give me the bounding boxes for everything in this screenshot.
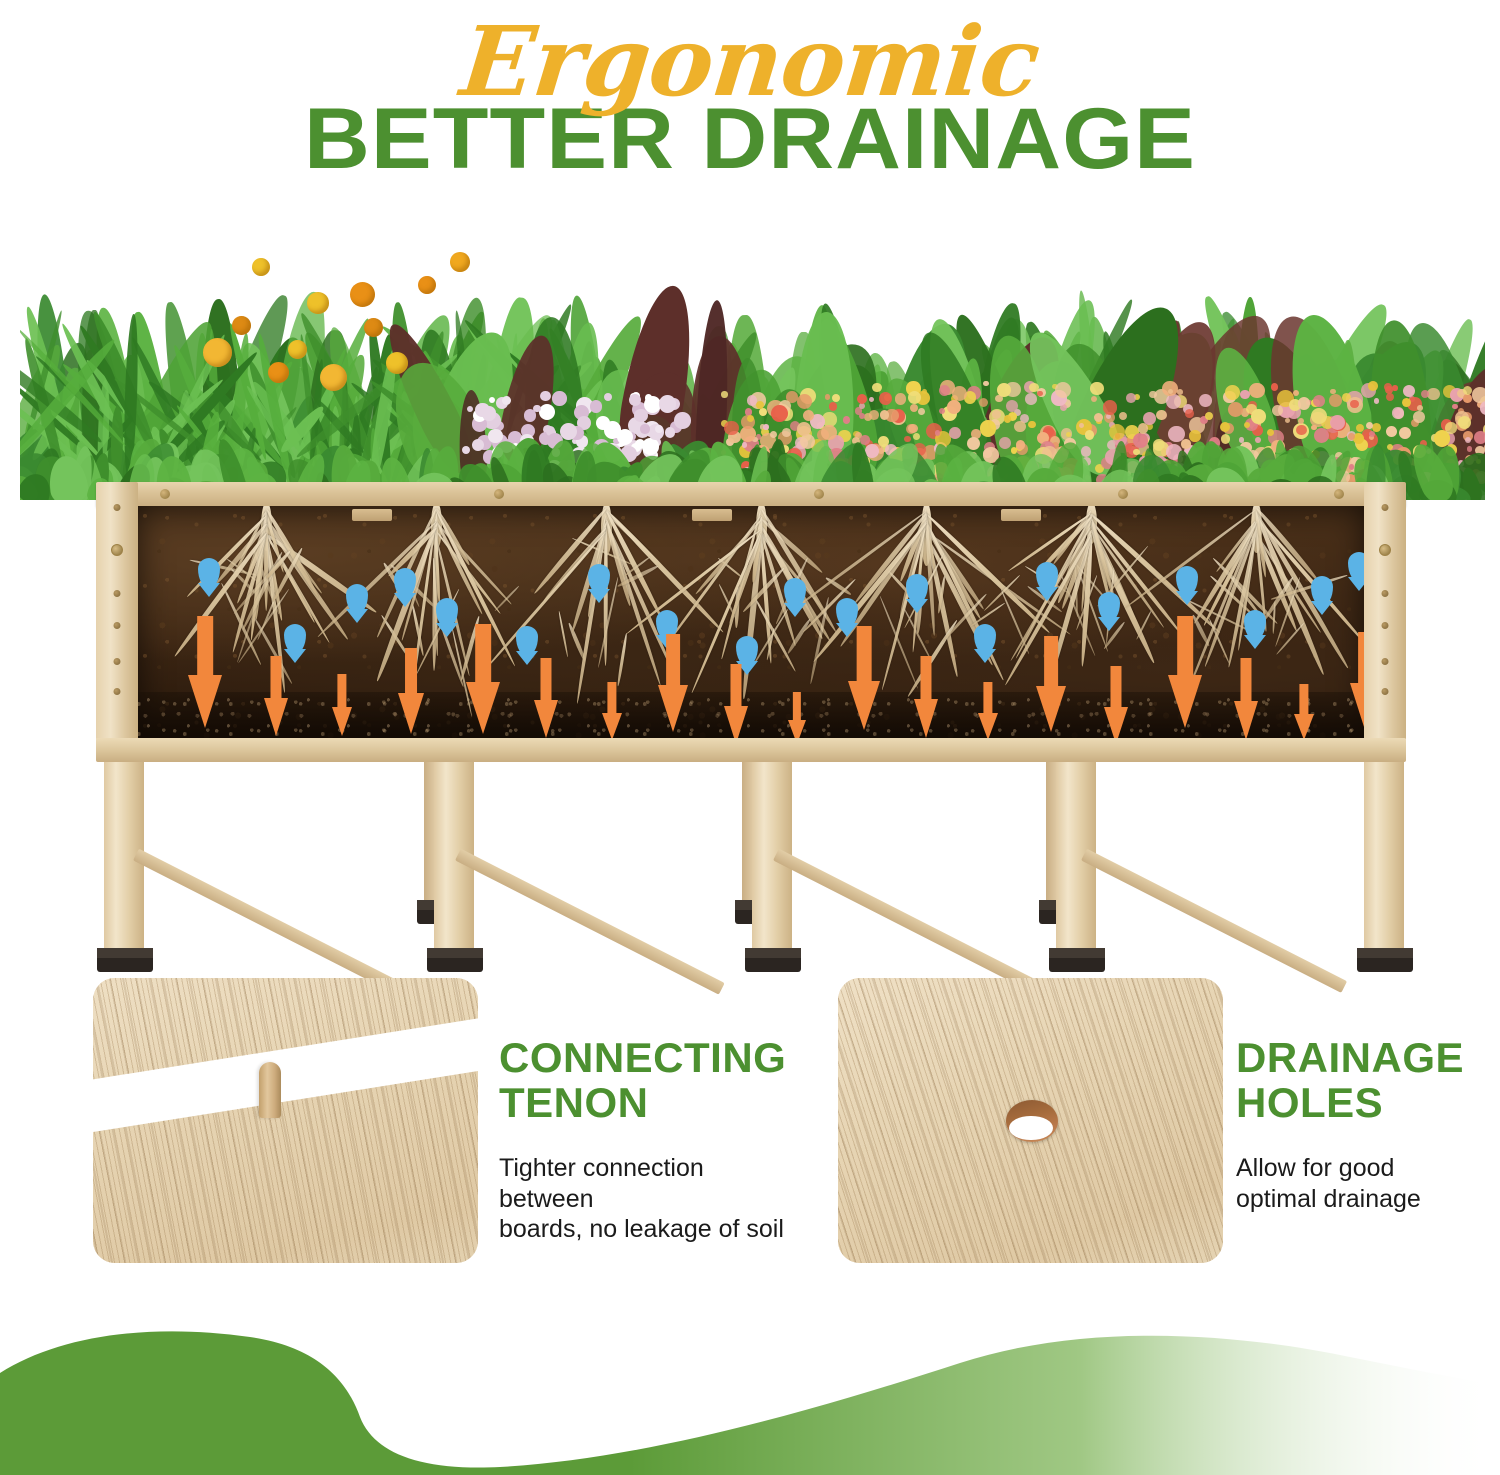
water-flow-arrow (534, 658, 558, 738)
planter-post-right (1364, 482, 1406, 740)
flower-blossom (860, 435, 869, 444)
flower-blossom (617, 429, 633, 445)
soil-cross-section (136, 506, 1366, 738)
flower-blossom (999, 437, 1011, 449)
flower-blossom (872, 383, 882, 393)
plant-foliage-group (20, 200, 1485, 500)
water-flow-arrow (788, 692, 806, 738)
flower-blossom (1386, 426, 1397, 437)
flower-blossom (1094, 413, 1103, 422)
citrus-fruit (364, 318, 383, 337)
flower-blossom (642, 438, 658, 454)
planter-leg-front (1364, 756, 1404, 952)
flower-blossom (1313, 395, 1325, 407)
flower-blossom (1133, 449, 1140, 456)
water-droplet (784, 578, 806, 608)
flower-blossom (1348, 433, 1355, 440)
flower-blossom (859, 403, 865, 409)
tenon-tab (352, 509, 392, 521)
planter-top-rim (96, 482, 1406, 508)
flower-blossom (1177, 389, 1183, 395)
flower-blossom (1452, 404, 1457, 409)
water-droplet (436, 598, 458, 628)
bottom-wave-decoration (0, 1295, 1500, 1475)
flower-blossom (1103, 400, 1118, 415)
flower-blossom (724, 421, 739, 436)
flower-blossom (1296, 425, 1306, 435)
flower-blossom (1189, 430, 1201, 442)
water-flow-arrow (332, 674, 352, 736)
leg-foot-cap (1049, 948, 1105, 972)
drainage-hole-photo (838, 978, 1223, 1263)
water-flow-arrow (1104, 666, 1128, 738)
flower-blossom (1368, 381, 1378, 391)
flower-blossom (1374, 398, 1379, 403)
flower-blossom (1014, 421, 1025, 432)
flower-blossom (1029, 383, 1039, 393)
flower-blossom (634, 409, 647, 422)
flower-blossom (1228, 402, 1243, 417)
flower-blossom (552, 391, 566, 405)
water-flow-arrow (264, 656, 288, 736)
flower-blossom (832, 394, 840, 402)
flower-blossom (674, 412, 691, 429)
flower-blossom (1392, 385, 1397, 390)
flower-blossom (1445, 422, 1457, 434)
hero-product-illustration (0, 200, 1500, 970)
water-droplet (906, 574, 928, 604)
water-droplet (198, 558, 220, 588)
flower-blossom (1330, 389, 1335, 394)
water-droplet (284, 624, 306, 654)
feature-title: CONNECTING TENON (499, 1036, 799, 1125)
water-flow-arrow (398, 648, 424, 734)
flower-blossom (1474, 431, 1485, 444)
water-flow-arrow (848, 626, 880, 730)
flower-blossom (1353, 433, 1364, 444)
flower-blossom (771, 405, 788, 422)
flower-blossom (759, 408, 767, 416)
flower-blossom (1417, 405, 1423, 411)
feature-connecting-tenon: CONNECTING TENON Tighter connection betw… (93, 978, 793, 1268)
tenon-tab (692, 509, 732, 521)
flower-blossom (747, 415, 754, 422)
flower-blossom (1427, 388, 1439, 400)
flower-blossom (1244, 422, 1250, 428)
water-flow-arrow (1036, 636, 1066, 732)
leg-foot-cap (1357, 948, 1413, 972)
flower-blossom (1369, 431, 1375, 437)
rail-screw (814, 489, 824, 499)
header-banner: Ergonomic BETTER DRAINAGE (0, 0, 1500, 200)
flower-blossom (1249, 383, 1264, 398)
flower-blossom (1037, 391, 1042, 396)
flower-blossom (797, 394, 812, 409)
water-droplet (974, 624, 996, 654)
flower-blossom (645, 394, 652, 401)
water-flow-arrow (658, 634, 688, 732)
flower-blossom (908, 424, 918, 434)
water-droplet (836, 598, 858, 628)
water-flow-arrow (602, 682, 622, 738)
flower-blossom (1399, 427, 1411, 439)
flower-blossom (910, 404, 918, 412)
water-flow-arrow (724, 664, 748, 738)
water-droplet (1036, 562, 1058, 592)
water-droplet (394, 568, 416, 598)
water-droplet (516, 626, 538, 656)
flower-blossom (1181, 439, 1190, 448)
flower-blossom (1126, 393, 1136, 403)
rail-screw (494, 489, 504, 499)
flower-blossom (1298, 397, 1310, 409)
feature-text-block: CONNECTING TENON Tighter connection betw… (499, 1036, 799, 1245)
flower-blossom (1251, 409, 1266, 424)
flower-blossom (475, 403, 489, 417)
flower-blossom (590, 400, 603, 413)
planter-post-left (96, 482, 138, 740)
water-flow-arrow (1234, 658, 1258, 738)
feature-section: CONNECTING TENON Tighter connection betw… (0, 978, 1500, 1278)
flower-blossom (539, 404, 555, 420)
flower-blossom (1271, 383, 1278, 390)
citrus-fruit (307, 292, 329, 314)
feature-drainage-holes: DRAINAGE HOLES Allow for good optimal dr… (838, 978, 1478, 1268)
planter-bottom-rail (96, 738, 1406, 762)
flower-blossom (797, 422, 811, 436)
feature-title: DRAINAGE HOLES (1236, 1036, 1486, 1125)
water-droplet (588, 564, 610, 594)
water-flow-arrow (1168, 616, 1202, 728)
water-flow-arrow (466, 624, 500, 734)
water-droplet (1176, 566, 1198, 596)
flower-blossom (821, 425, 836, 440)
flower-blossom (829, 402, 838, 411)
leg-foot-cap (97, 948, 153, 972)
tenon-tab (1001, 509, 1041, 521)
flower-blossom (983, 381, 988, 386)
flower-blossom (1066, 432, 1071, 437)
flower-blossom (1220, 422, 1230, 432)
flower-blossom (1133, 433, 1148, 448)
water-droplet (1098, 592, 1120, 622)
flower-blossom (1413, 411, 1425, 423)
flower-blossom (997, 383, 1011, 397)
flower-blossom (895, 393, 906, 404)
citrus-fruit (350, 282, 375, 307)
flower-blossom (596, 416, 610, 430)
flower-blossom (1366, 422, 1373, 429)
water-flow-arrow (914, 656, 938, 738)
flower-blossom (1387, 444, 1393, 450)
flower-blossom (1240, 390, 1249, 399)
flower-blossom (1255, 437, 1261, 443)
flower-blossom (1081, 446, 1091, 456)
citrus-fruit (232, 316, 251, 335)
water-droplet (1311, 576, 1333, 606)
flower-blossom (1463, 394, 1471, 402)
citrus-fruit (203, 338, 232, 367)
citrus-fruit (288, 340, 307, 359)
water-droplet (736, 636, 758, 666)
flower-blossom (1330, 415, 1345, 430)
flower-blossom (540, 391, 551, 402)
flower-blossom (880, 410, 889, 419)
flower-blossom (1006, 400, 1018, 412)
flower-blossom (721, 391, 727, 397)
flower-blossom (467, 406, 473, 412)
flower-blossom (1392, 407, 1403, 418)
wooden-dowel-pin (259, 1062, 281, 1118)
flower-blossom (1109, 424, 1125, 440)
header-script-word: Ergonomic (0, 14, 1500, 110)
drilled-drainage-hole (1006, 1100, 1058, 1142)
leg-foot-cap (745, 948, 801, 972)
flower-blossom (843, 416, 850, 423)
flower-blossom (1085, 430, 1095, 440)
citrus-fruit (252, 258, 270, 276)
flower-blossom (904, 436, 911, 443)
flower-blossom (1199, 394, 1212, 407)
flower-blossom (913, 433, 920, 440)
flower-blossom (462, 446, 470, 454)
flower-blossom (1384, 383, 1392, 391)
flower-blossom (763, 424, 768, 429)
flower-blossom (640, 424, 649, 433)
flower-blossom (1458, 416, 1471, 429)
flower-blossom (1166, 394, 1181, 409)
flower-blossom (1350, 400, 1359, 409)
water-flow-arrow (978, 682, 998, 738)
feature-text-block: DRAINAGE HOLES Allow for good optimal dr… (1236, 1036, 1486, 1214)
flower-blossom (1472, 387, 1485, 403)
feature-description: Tighter connection between boards, no le… (499, 1153, 799, 1245)
rail-screw (160, 489, 170, 499)
water-droplet (1244, 610, 1266, 640)
water-droplet (346, 584, 368, 614)
tenon-dowel-photo (93, 978, 478, 1263)
flower-blossom (864, 413, 872, 421)
feature-description: Allow for good optimal drainage (1236, 1153, 1486, 1214)
water-flow-arrow (188, 616, 222, 728)
citrus-fruit (386, 352, 408, 374)
flower-blossom (747, 395, 758, 406)
citrus-fruit (450, 252, 470, 272)
rail-screw (1334, 489, 1344, 499)
flower-blossom (782, 428, 791, 437)
citrus-fruit (418, 276, 436, 294)
rail-screw (1118, 489, 1128, 499)
flower-blossom (1156, 410, 1167, 421)
flower-blossom (1025, 393, 1037, 405)
flower-blossom (1356, 424, 1364, 432)
flower-blossom (918, 408, 925, 415)
flower-blossom (629, 394, 641, 406)
flower-blossom (1480, 401, 1485, 415)
flower-blossom (524, 409, 537, 422)
water-flow-arrow (1294, 684, 1314, 738)
leg-foot-cap (427, 948, 483, 972)
flower-blossom (1185, 409, 1194, 418)
